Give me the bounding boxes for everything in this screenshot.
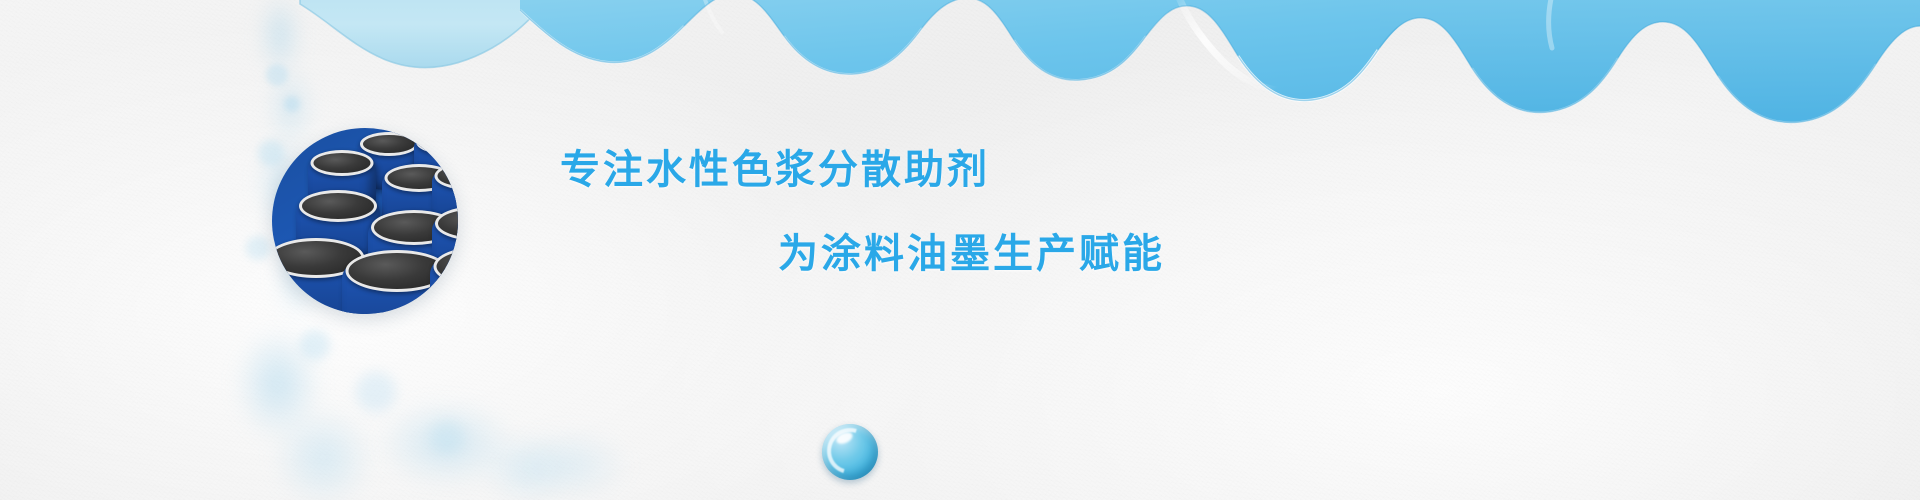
drum-lid	[360, 132, 418, 156]
headline-line-2: 为涂料油墨生产赋能	[778, 234, 1320, 274]
headline-group: 专注水性色浆分散助剂 为涂料油墨生产赋能	[560, 150, 1320, 274]
drum-lid	[311, 150, 374, 176]
hero-banner: 专注水性色浆分散助剂 为涂料油墨生产赋能	[0, 0, 1920, 500]
drum-lid	[299, 190, 377, 222]
decorative-bubble	[822, 424, 878, 480]
top-liquid-drip	[0, 0, 1920, 135]
drum-scene	[272, 128, 458, 314]
product-photo-circle	[272, 128, 458, 314]
drum-lid	[416, 130, 458, 154]
headline-line-1: 专注水性色浆分散助剂	[560, 150, 1320, 190]
